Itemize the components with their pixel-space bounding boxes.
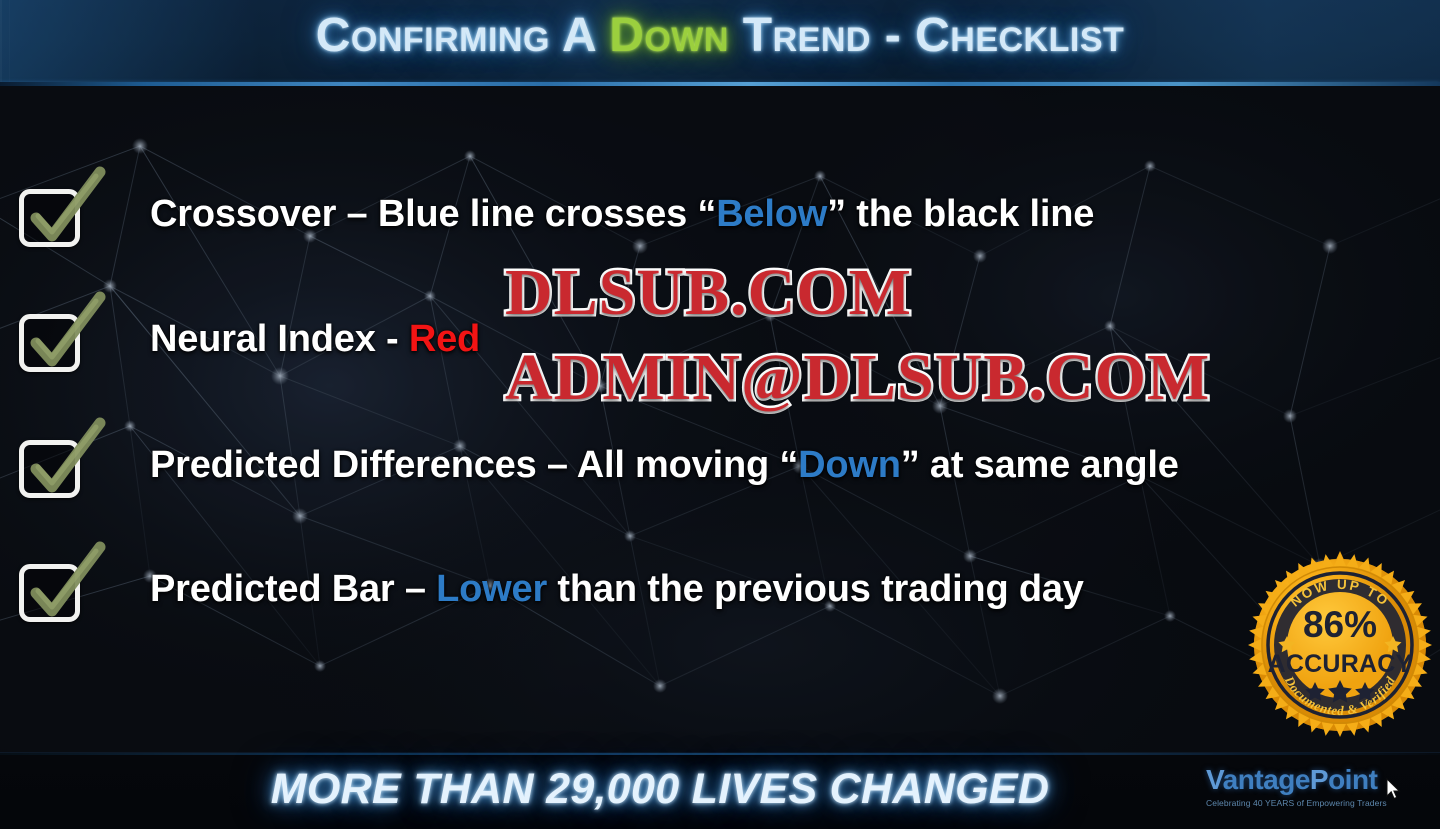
vantagepoint-logo: VantagePoint Celebrating 40 YEARS of Emp… xyxy=(1206,766,1387,808)
badge-label: ACCURACY xyxy=(1268,650,1413,678)
footer-divider xyxy=(0,753,1440,755)
checklist-item-text: Crossover – Blue line crosses “Below” th… xyxy=(150,193,1094,236)
text-segment: ” the black line xyxy=(827,193,1094,235)
page-title-part1: Confirming A xyxy=(316,9,609,62)
page-title-accent: Down xyxy=(609,9,729,62)
badge-percent: 86% xyxy=(1303,604,1377,645)
logo-name-part1: V xyxy=(1206,764,1223,795)
watermark-email: ADMIN@DLSUB.COM xyxy=(505,340,1210,416)
checkbox-checked[interactable] xyxy=(16,182,80,246)
text-segment: Predicted Differences – All moving “ xyxy=(150,444,798,486)
text-segment-highlight: Lower xyxy=(436,568,547,610)
text-segment: ” at same angle xyxy=(901,444,1179,486)
checkbox-checked[interactable] xyxy=(16,307,80,371)
watermark-site: DLSUB.COM xyxy=(505,255,912,331)
footer-tagline: MORE THAN 29,000 LIVES CHANGED xyxy=(180,765,1140,814)
checkbox-checked[interactable] xyxy=(16,433,80,497)
checklist-item[interactable]: Predicted Bar – Lower than the previous … xyxy=(0,557,1440,621)
slide-root: Confirming A Down Trend - Checklist xyxy=(0,0,1440,829)
mouse-cursor-icon xyxy=(1386,778,1402,802)
text-segment-highlight: Red xyxy=(409,318,480,360)
text-segment-highlight: Down xyxy=(798,444,901,486)
text-segment: than the previous trading day xyxy=(547,568,1084,610)
check-icon xyxy=(14,541,110,633)
checklist-item-text: Predicted Differences – All moving “Down… xyxy=(150,444,1179,487)
text-segment-highlight: Below xyxy=(716,193,827,235)
text-segment: Crossover – Blue line crosses “ xyxy=(150,193,716,235)
text-segment: Predicted Bar – xyxy=(150,568,436,610)
accuracy-badge: NOW UP TO Documented & Verified 86% ACCU… xyxy=(1243,548,1437,742)
check-icon xyxy=(14,417,110,509)
text-segment: Neural Index - xyxy=(150,318,409,360)
checkbox-checked[interactable] xyxy=(16,557,80,621)
logo-name-part4: oint xyxy=(1328,764,1377,795)
checklist-item[interactable]: Predicted Differences – All moving “Down… xyxy=(0,433,1440,497)
logo-name-part2: antage xyxy=(1223,764,1310,795)
check-icon xyxy=(14,166,110,258)
page-title: Confirming A Down Trend - Checklist xyxy=(0,8,1440,63)
logo-wordmark: VantagePoint xyxy=(1206,766,1387,794)
checklist-item[interactable]: Crossover – Blue line crosses “Below” th… xyxy=(0,182,1440,246)
slide-header: Confirming A Down Trend - Checklist xyxy=(0,0,1440,86)
checklist-item-text: Neural Index - Red xyxy=(150,318,480,361)
check-icon xyxy=(14,291,110,383)
checklist: Crossover – Blue line crosses “Below” th… xyxy=(0,86,1440,752)
logo-tagline: Celebrating 40 YEARS of Empowering Trade… xyxy=(1206,798,1387,808)
logo-name-part3: P xyxy=(1310,764,1328,795)
page-title-part2: Trend - Checklist xyxy=(729,9,1124,62)
checklist-item-text: Predicted Bar – Lower than the previous … xyxy=(150,568,1084,611)
